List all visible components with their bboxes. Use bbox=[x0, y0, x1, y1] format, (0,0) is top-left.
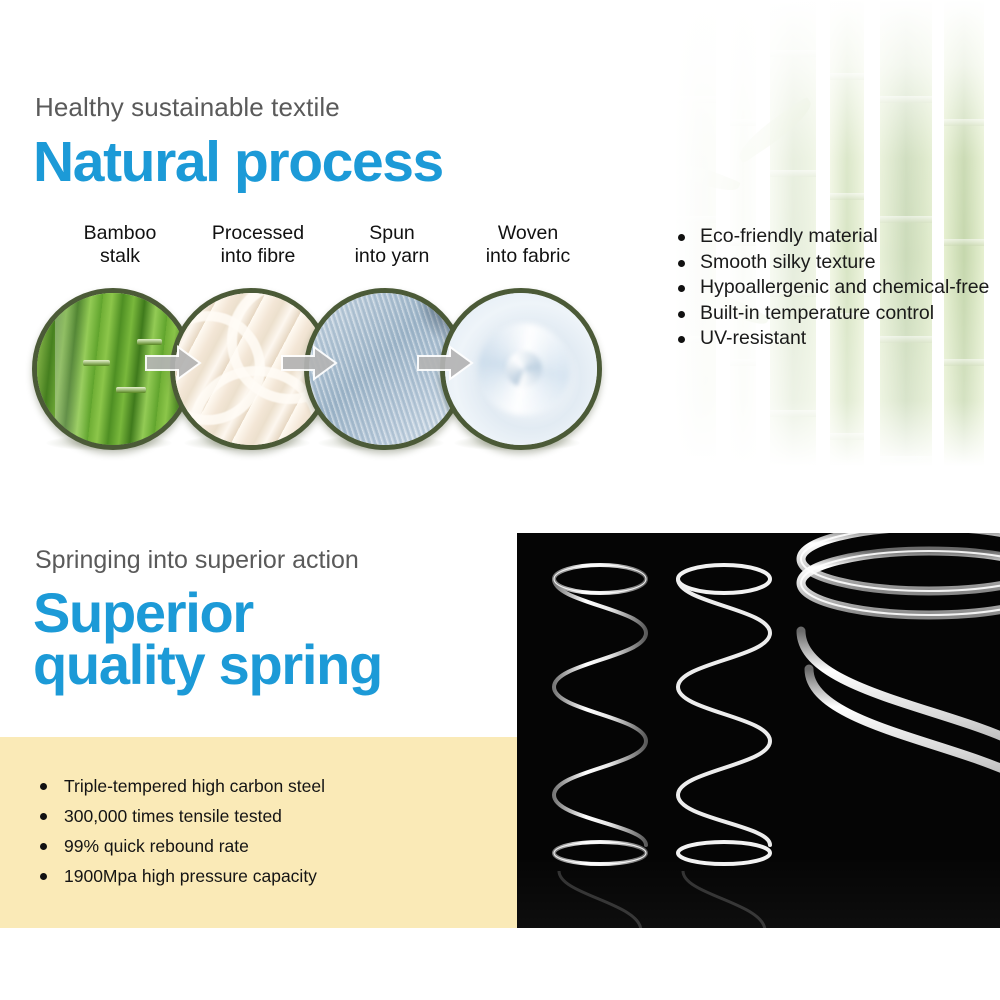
list-item: 1900Mpa high pressure capacity bbox=[36, 861, 506, 891]
top-headline: Natural process bbox=[33, 132, 443, 192]
right-arrow-icon bbox=[416, 344, 474, 382]
list-item: Triple-tempered high carbon steel bbox=[36, 771, 506, 801]
spring-features-list: Triple-tempered high carbon steel 300,00… bbox=[36, 771, 506, 891]
list-item: 300,000 times tensile tested bbox=[36, 801, 506, 831]
product-infographic: Healthy sustainable textile Natural proc… bbox=[0, 0, 1000, 1000]
bottom-headline: Superior quality spring bbox=[33, 587, 382, 691]
natural-process-section: Healthy sustainable textile Natural proc… bbox=[0, 0, 1000, 466]
right-arrow-icon bbox=[144, 344, 202, 382]
list-item: 99% quick rebound rate bbox=[36, 831, 506, 861]
top-eyebrow: Healthy sustainable textile bbox=[35, 92, 340, 123]
bottom-headline-line2: quality spring bbox=[33, 639, 382, 691]
bottom-headline-line1: Superior bbox=[33, 587, 382, 639]
list-item: Hypoallergenic and chemical-free bbox=[676, 275, 996, 301]
list-item: UV-resistant bbox=[676, 326, 996, 352]
bottom-eyebrow: Springing into superior action bbox=[35, 546, 359, 575]
photo-floor-glow bbox=[517, 858, 1000, 928]
list-item: Built-in temperature control bbox=[676, 301, 996, 327]
superior-spring-section: Springing into superior action Superior … bbox=[0, 466, 1000, 1000]
right-arrow-icon bbox=[280, 344, 338, 382]
metal-coil-springs-photo bbox=[517, 533, 1000, 928]
coil-spring-small-1 bbox=[545, 557, 655, 877]
coil-spring-small-2 bbox=[669, 557, 779, 877]
list-item: Eco-friendly material bbox=[676, 224, 996, 250]
coil-spring-large bbox=[779, 533, 1000, 859]
list-item: Smooth silky texture bbox=[676, 250, 996, 276]
process-label-4: Woven into fabric bbox=[443, 222, 613, 268]
benefits-list: Eco-friendly material Smooth silky textu… bbox=[676, 224, 996, 352]
process-diagram: Bamboo stalk Processed into fibre Spun i… bbox=[0, 220, 640, 460]
